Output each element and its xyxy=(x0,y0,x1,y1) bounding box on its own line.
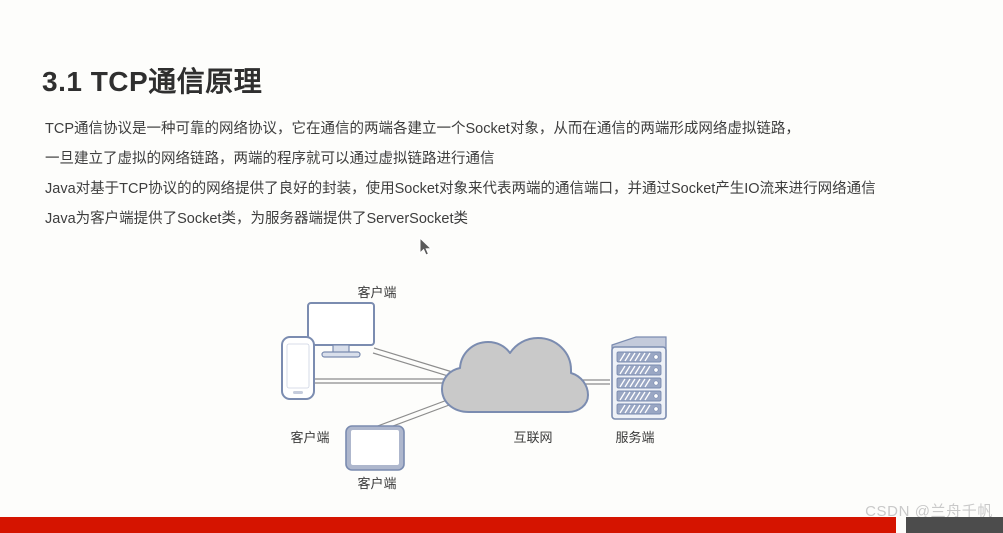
body-text-line-3: Java对基于TCP协议的的网络提供了良好的封装，使用Socket对象来代表两端… xyxy=(45,174,995,204)
slide-canvas: 3.1 TCP通信原理 TCP通信协议是一种可靠的网络协议，它在通信的两端各建立… xyxy=(0,0,1003,533)
network-diagram: 客户端 客户端 客户端 互联网 服务端 xyxy=(270,275,700,500)
diagram-label-server: 服务端 xyxy=(600,427,670,446)
monitor-icon xyxy=(308,303,374,357)
diagram-label-internet: 互联网 xyxy=(498,427,568,446)
body-text-line-4: Java为客户端提供了Socket类，为服务器端提供了ServerSocket类 xyxy=(45,204,995,234)
phone-icon xyxy=(282,337,314,399)
footer-red-bar xyxy=(0,517,896,533)
body-text-line-2: 一旦建立了虚拟的网络链路，两端的程序就可以通过虚拟链路进行通信 xyxy=(45,144,995,174)
server-icon xyxy=(612,337,666,419)
tablet-icon xyxy=(346,426,404,470)
cloud-icon xyxy=(442,338,588,412)
footer-dark-bar xyxy=(906,517,1003,533)
body-text-block: TCP通信协议是一种可靠的网络协议，它在通信的两端各建立一个Socket对象，从… xyxy=(45,114,995,234)
body-text-line-1: TCP通信协议是一种可靠的网络协议，它在通信的两端各建立一个Socket对象，从… xyxy=(45,114,995,144)
page-title: 3.1 TCP通信原理 xyxy=(42,60,262,100)
diagram-svg xyxy=(270,275,700,500)
diagram-label-client-desktop: 客户端 xyxy=(342,282,412,301)
arrow-pointer-icon xyxy=(419,237,433,257)
diagram-label-client-tablet: 客户端 xyxy=(342,473,412,492)
diagram-label-client-phone: 客户端 xyxy=(275,427,345,446)
